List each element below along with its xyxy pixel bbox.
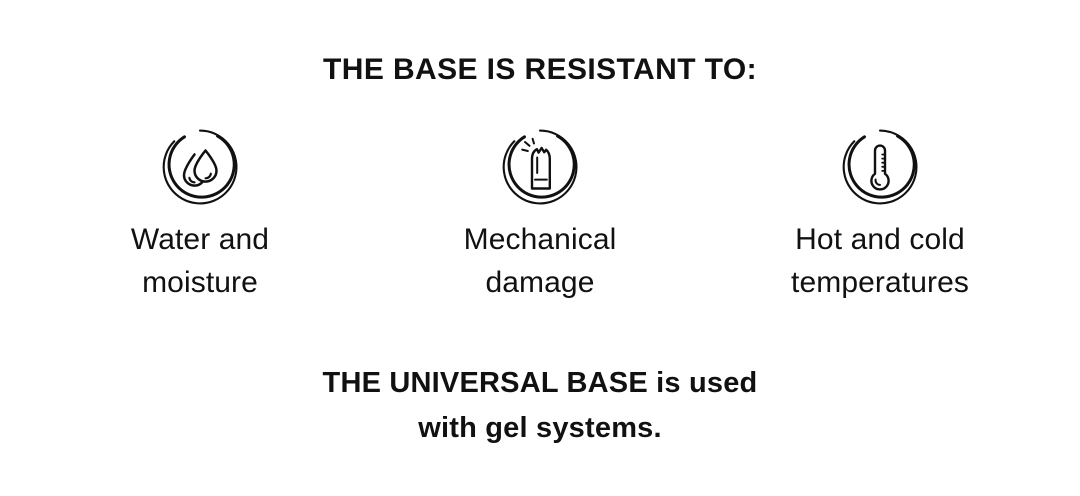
feature-label-water: Water and moisture (131, 218, 269, 304)
feature-item-mechanical: Mechanical damage (370, 128, 710, 304)
water-drop-circle-icon (161, 128, 239, 206)
thermometer-circle-icon (841, 128, 919, 206)
feature-label-temperature: Hot and cold temperatures (791, 218, 969, 304)
feature-item-water: Water and moisture (30, 128, 370, 304)
page-title: THE BASE IS RESISTANT TO: (0, 50, 1080, 90)
feature-label-mechanical: Mechanical damage (464, 218, 617, 304)
feature-row: Water and moisture Mechanical damage (0, 128, 1080, 304)
chipped-nail-circle-icon (501, 128, 579, 206)
footer-statement: THE UNIVERSAL BASE is used with gel syst… (0, 361, 1080, 451)
promo-graphic: THE BASE IS RESISTANT TO: Water and mois… (0, 0, 1080, 496)
feature-item-temperature: Hot and cold temperatures (710, 128, 1050, 304)
